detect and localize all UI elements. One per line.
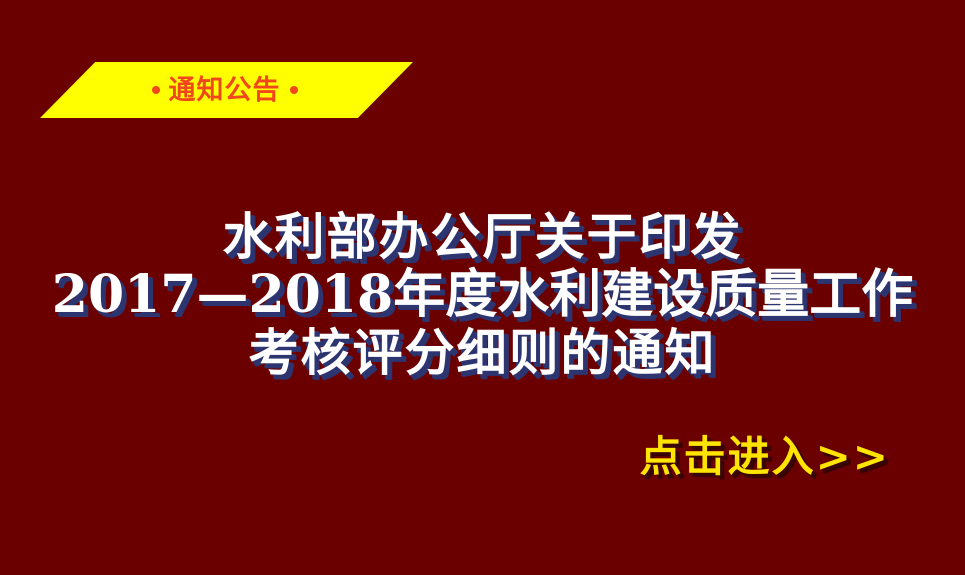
ribbon-label-row: 通知公告 bbox=[40, 62, 413, 118]
bullet-dot-icon-left bbox=[152, 86, 160, 94]
enter-link[interactable]: 点击进入>> bbox=[640, 432, 890, 482]
bullet-dot-icon-right bbox=[290, 86, 298, 94]
ribbon-label-text: 通知公告 bbox=[169, 77, 281, 104]
title-line-1: 水利部办公厅关于印发 bbox=[0, 208, 965, 266]
notice-ribbon-tag: 通知公告 bbox=[40, 62, 413, 118]
announcement-banner: 通知公告 水利部办公厅关于印发 2017—2018年度水利建设质量工作 考核评分… bbox=[0, 0, 965, 575]
announcement-title: 水利部办公厅关于印发 2017—2018年度水利建设质量工作 考核评分细则的通知 bbox=[0, 208, 965, 382]
title-line-3: 考核评分细则的通知 bbox=[0, 324, 965, 382]
cta-row: 点击进入>> bbox=[0, 432, 965, 482]
title-line-2: 2017—2018年度水利建设质量工作 bbox=[0, 266, 965, 324]
